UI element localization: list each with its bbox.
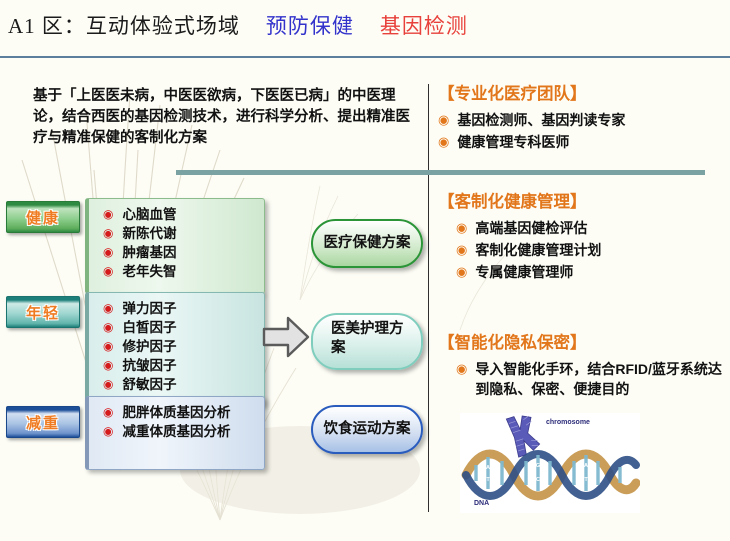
list-item-label: 导入智能化手环，结合RFID/蓝牙系统达到隐私、保密、便捷目的 <box>475 359 726 399</box>
list-item: ◉ 肥胖体质基因分析 <box>103 403 256 422</box>
list-item: ◉ 基因检测师、基因判读专家 <box>438 110 726 130</box>
horizontal-teal-rule <box>176 170 705 175</box>
right-block-management-list: ◉ 高端基因健检评估 ◉ 客制化健康管理计划 ◉ 专属健康管理师 <box>438 218 726 282</box>
title-underline-rule <box>0 56 730 58</box>
list-item-label: 肿瘤基因 <box>122 243 176 262</box>
list-item-label: 减重体质基因分析 <box>122 422 230 441</box>
bullet-red-icon: ◉ <box>103 224 113 243</box>
bullet-red-icon: ◉ <box>103 243 113 262</box>
bullet-red-icon: ◉ <box>103 262 113 281</box>
list-item: ◉ 新陈代谢 <box>103 224 256 243</box>
list-item-label: 老年失智 <box>122 262 176 281</box>
list-item: ◉ 弹力因子 <box>103 299 256 318</box>
list-item: ◉ 减重体质基因分析 <box>103 422 256 441</box>
category-label-weight[interactable]: 减重 <box>6 406 80 438</box>
bullet-red-icon: ◉ <box>103 403 113 422</box>
right-arrow-icon <box>262 315 310 359</box>
bullet-red-icon: ◉ <box>103 375 113 394</box>
plan-pill-medical[interactable]: 医疗保健方案 <box>311 219 423 268</box>
list-item: ◉ 肿瘤基因 <box>103 243 256 262</box>
bullet-orange-icon: ◉ <box>456 262 467 282</box>
list-item-label: 高端基因健检评估 <box>475 218 726 238</box>
bullet-orange-icon: ◉ <box>438 110 449 130</box>
bullet-orange-icon: ◉ <box>438 132 449 152</box>
right-block-team: 【专业化医疗团队】 ◉ 基因检测师、基因判读专家 ◉ 健康管理专科医师 <box>438 84 726 154</box>
vertical-divider <box>428 84 429 512</box>
svg-text:A: A <box>584 463 588 469</box>
right-block-team-heading: 【专业化医疗团队】 <box>438 84 726 104</box>
bullet-red-icon: ◉ <box>103 422 113 441</box>
list-item: ◉ 抗皱因子 <box>103 356 256 375</box>
list-item-label: 健康管理专科医师 <box>457 132 726 152</box>
list-item: ◉ 健康管理专科医师 <box>438 132 726 152</box>
factor-panel-weight: ◉ 肥胖体质基因分析 ◉ 减重体质基因分析 <box>85 396 265 470</box>
svg-text:A: A <box>486 465 490 471</box>
list-item-label: 弹力因子 <box>122 299 176 318</box>
right-block-privacy-heading: 【智能化隐私保密】 <box>438 333 726 353</box>
plan-pill-medical-label: 医疗保健方案 <box>313 234 421 253</box>
factor-panel-health: ◉ 心脑血管 ◉ 新陈代谢 ◉ 肿瘤基因 ◉ 老年失智 <box>85 198 265 294</box>
list-item: ◉ 舒敏因子 <box>103 375 256 394</box>
category-label-health[interactable]: 健康 <box>6 201 80 233</box>
list-item: ◉ 客制化健康管理计划 <box>456 240 726 260</box>
list-item: ◉ 白皙因子 <box>103 318 256 337</box>
right-block-management: 【客制化健康管理】 ◉ 高端基因健检评估 ◉ 客制化健康管理计划 ◉ 专属健康管… <box>438 192 726 284</box>
bullet-red-icon: ◉ <box>103 205 113 224</box>
list-item-label: 基因检测师、基因判读专家 <box>457 110 726 130</box>
bullet-red-icon: ◉ <box>103 299 113 318</box>
slide-title: A1 区：互动体验式场域预防保健基因检测 <box>0 10 730 52</box>
bullet-orange-icon: ◉ <box>456 240 467 260</box>
plan-pill-diet-label: 饮食运动方案 <box>313 420 421 439</box>
title-red-tag: 基因检测 <box>380 14 468 38</box>
category-label-health-text: 健康 <box>26 207 60 228</box>
list-item-label: 抗皱因子 <box>122 356 176 375</box>
list-item-label: 客制化健康管理计划 <box>475 240 726 260</box>
list-item: ◉ 高端基因健检评估 <box>456 218 726 238</box>
bullet-red-icon: ◉ <box>103 337 113 356</box>
bullet-red-icon: ◉ <box>103 356 113 375</box>
list-item-label: 肥胖体质基因分析 <box>122 403 230 422</box>
dna-helix-figure: chromosome AT GC AT DNA <box>460 413 640 513</box>
list-item: ◉ 导入智能化手环，结合RFID/蓝牙系统达到隐私、保密、便捷目的 <box>456 359 726 399</box>
list-item-label: 舒敏因子 <box>122 375 176 394</box>
right-block-management-heading: 【客制化健康管理】 <box>438 192 726 212</box>
chromosome-label: chromosome <box>546 419 590 426</box>
bullet-red-icon: ◉ <box>103 318 113 337</box>
plan-pill-beauty-label: 医美护理方案 <box>313 320 421 358</box>
bullet-orange-icon: ◉ <box>456 218 467 238</box>
category-label-weight-text: 减重 <box>26 412 60 433</box>
list-item: ◉ 心脑血管 <box>103 205 256 224</box>
list-item: ◉ 老年失智 <box>103 262 256 281</box>
svg-text:G: G <box>536 463 540 469</box>
list-item-label: 白皙因子 <box>122 318 176 337</box>
list-item-label: 修护因子 <box>122 337 176 356</box>
svg-text:C: C <box>536 477 540 483</box>
plan-pill-diet[interactable]: 饮食运动方案 <box>311 405 423 454</box>
dna-label: DNA <box>474 500 489 507</box>
bullet-orange-icon: ◉ <box>456 359 467 379</box>
factor-list-young: ◉ 弹力因子 ◉ 白皙因子 ◉ 修护因子 ◉ 抗皱因子 ◉ 舒敏因子 <box>89 299 264 394</box>
plan-pill-beauty[interactable]: 医美护理方案 <box>311 313 423 370</box>
list-item-label: 心脑血管 <box>122 205 176 224</box>
right-block-privacy: 【智能化隐私保密】 ◉ 导入智能化手环，结合RFID/蓝牙系统达到隐私、保密、便… <box>438 333 726 401</box>
right-block-privacy-list: ◉ 导入智能化手环，结合RFID/蓝牙系统达到隐私、保密、便捷目的 <box>438 359 726 399</box>
category-label-young-text: 年轻 <box>26 302 60 323</box>
title-main: A1 区：互动体验式场域 <box>8 14 240 38</box>
title-blue-tag: 预防保健 <box>266 14 354 38</box>
list-item-label: 专属健康管理师 <box>475 262 726 282</box>
list-item: ◉ 修护因子 <box>103 337 256 356</box>
category-label-young[interactable]: 年轻 <box>6 296 80 328</box>
factor-list-weight: ◉ 肥胖体质基因分析 ◉ 减重体质基因分析 <box>89 403 264 441</box>
list-item-label: 新陈代谢 <box>122 224 176 243</box>
factor-panel-young: ◉ 弹力因子 ◉ 白皙因子 ◉ 修护因子 ◉ 抗皱因子 ◉ 舒敏因子 <box>85 292 265 406</box>
right-block-team-list: ◉ 基因检测师、基因判读专家 ◉ 健康管理专科医师 <box>438 110 726 152</box>
intro-paragraph: 基于「上医医未病，中医医欲病，下医医已病」的中医理论，结合西医的基因检测技术，进… <box>33 86 418 149</box>
factor-list-health: ◉ 心脑血管 ◉ 新陈代谢 ◉ 肿瘤基因 ◉ 老年失智 <box>89 205 264 281</box>
list-item: ◉ 专属健康管理师 <box>456 262 726 282</box>
